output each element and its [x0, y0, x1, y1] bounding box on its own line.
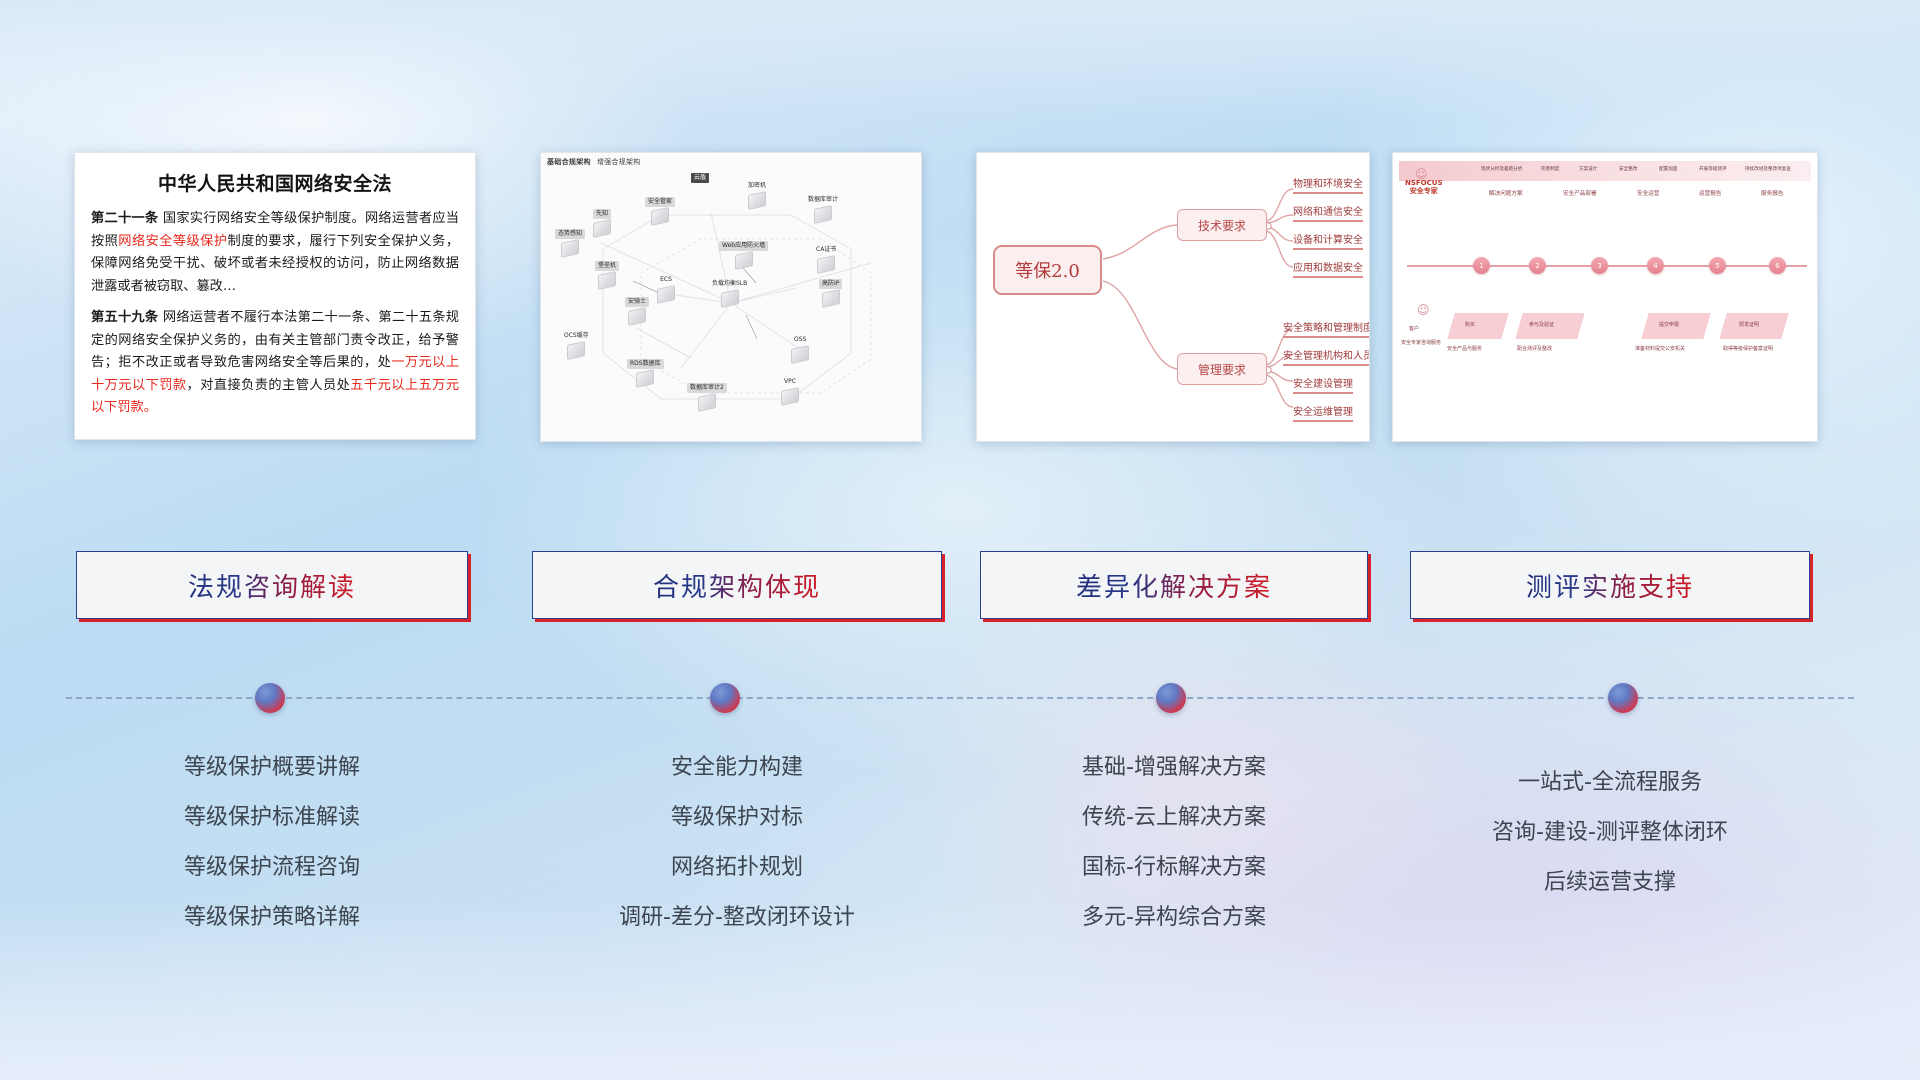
- roadmap-brand-line2: 安全专家: [1405, 187, 1443, 195]
- list-item: 国标-行标解决方案: [980, 843, 1368, 893]
- roadmap-header: 安全运营: [1637, 189, 1659, 197]
- law-article-label-2: 第五十九条: [91, 310, 158, 325]
- section-plaque-2[interactable]: 合规架构体现: [532, 551, 942, 619]
- roadmap-bottom-shape: [1447, 313, 1508, 339]
- arch-node-oss: OSS: [791, 335, 809, 362]
- roadmap-brand-line1: NSFOCUS: [1405, 179, 1443, 187]
- architecture-tabs: 基础合规架构增强合规架构: [547, 157, 641, 167]
- arch-node-vpc: VPC: [781, 377, 799, 404]
- card-compliance-architecture: 基础合规架构增强合规架构 云盾 安全管家: [540, 152, 922, 442]
- mindmap-leaf: 物理和环境安全: [1293, 175, 1363, 194]
- card-service-roadmap: 现状分析及差距分析 完善制度 方案设计 安全整改 配置加固 开展等级测评 持续改…: [1392, 152, 1818, 442]
- roadmap-band-item: 开展等级测评: [1699, 166, 1727, 172]
- roadmap-left-label: 客户: [1409, 325, 1419, 332]
- mindmap-root: 等保2.0: [993, 245, 1102, 295]
- roadmap-brand: NSFOCUS 安全专家: [1405, 179, 1443, 195]
- arch-node-label: OCS缓存: [561, 331, 592, 341]
- list-item: 等级保护标准解读: [76, 793, 468, 843]
- mindmap-branch-management: 管理要求: [1177, 353, 1267, 385]
- roadmap-step-dot: 1: [1473, 257, 1490, 274]
- arch-node-label: 堡垒机: [595, 261, 619, 271]
- customer-avatar-icon: ☺: [1417, 303, 1430, 317]
- arch-node-slb: 负载均衡SLB: [709, 279, 750, 306]
- arch-node-label: RDS数据库: [627, 359, 664, 369]
- arch-node-label: CA证书: [813, 245, 839, 255]
- arch-node-label: ECS: [657, 275, 675, 285]
- roadmap-header: 运营报告: [1699, 189, 1721, 197]
- roadmap-step-dot: 2: [1529, 257, 1546, 274]
- roadmap-header: 安全产品部署: [1563, 189, 1597, 197]
- section-plaque-4[interactable]: 测评实施支持: [1410, 551, 1810, 619]
- list-item: 网络拓扑规划: [532, 843, 942, 893]
- arch-node-label: Web应用防火墙: [719, 241, 768, 251]
- roadmap-bottom-sub: 准备材料提交公安机关: [1635, 345, 1685, 352]
- list-item: 等级保护策略详解: [76, 893, 468, 943]
- mindmap-leaf: 安全建设管理: [1293, 375, 1353, 394]
- arch-node-yundun: 云盾: [691, 173, 709, 183]
- arch-node-rds: RDS数据库: [627, 359, 664, 386]
- list-item: 安全能力构建: [532, 743, 942, 793]
- roadmap-bottom-sub: 配合测评及整改: [1517, 345, 1552, 352]
- roadmap-bottom-title: 参与及验证: [1529, 321, 1554, 328]
- section-plaque-1[interactable]: 法规咨询解读: [76, 551, 468, 619]
- law-paragraph-2: 第五十九条 网络运营者不履行本法第二十一条、第二十五条规定的网络安全保护义务的，…: [91, 307, 459, 420]
- mindmap-leaf: 安全运维管理: [1293, 403, 1353, 422]
- list-item: 等级保护概要讲解: [76, 743, 468, 793]
- section-list-2: 安全能力构建 等级保护对标 网络拓扑规划 调研-差分-整改闭环设计: [532, 743, 942, 943]
- roadmap-bottom-title: 购买: [1465, 321, 1475, 328]
- arch-node-gaofangip: 高防IP: [819, 279, 842, 306]
- section-title-4: 测评实施支持: [1526, 567, 1694, 604]
- law-paragraph-1: 第二十一条 国家实行网络安全等级保护制度。网络运营者应当按照网络安全等级保护制度…: [91, 208, 459, 298]
- timeline-dot-1[interactable]: [255, 683, 285, 713]
- roadmap-header: 解决问题方案: [1489, 189, 1523, 197]
- mindmap-leaf: 安全策略和管理制度: [1283, 319, 1370, 338]
- section-title-1: 法规咨询解读: [188, 567, 356, 604]
- timeline-dashed-line: [66, 697, 1854, 699]
- roadmap-band-item: 方案设计: [1579, 166, 1597, 172]
- arch-node-anqishi: 安骑士: [625, 297, 649, 324]
- arch-node-taishiganzhi: 态势感知: [555, 229, 585, 256]
- arch-node-label: 数据库审计2: [687, 383, 727, 393]
- list-item: 后续运营支撑: [1410, 858, 1810, 908]
- arch-node-label: 安全管家: [645, 197, 675, 207]
- card-dengbao-mindmap: 等保2.0 技术要求 管理要求 物理和环境安全 网络和通信安全 设备和计算安全 …: [976, 152, 1370, 442]
- roadmap-bottom-sub: 取得等级保护备案证明: [1723, 345, 1773, 352]
- section-list-1: 等级保护概要讲解 等级保护标准解读 等级保护流程咨询 等级保护策略详解: [76, 743, 468, 943]
- arch-node-dbaudit-bottom: 数据库审计2: [687, 383, 727, 410]
- roadmap-band-item: 持续改进及整改项复查: [1745, 166, 1791, 172]
- list-item: 传统-云上解决方案: [980, 793, 1368, 843]
- list-item: 一站式-全流程服务: [1410, 758, 1810, 808]
- mindmap-branch-technical: 技术要求: [1177, 209, 1267, 241]
- roadmap-step-dot: 4: [1647, 257, 1664, 274]
- arch-node-label: 加密机: [745, 181, 769, 191]
- arch-node-label: 安骑士: [625, 297, 649, 307]
- arch-node-xianzhi: 先知: [593, 209, 611, 236]
- roadmap-band-item: 现状分析及差距分析: [1481, 166, 1522, 172]
- arch-node-waf: Web应用防火墙: [719, 241, 768, 268]
- section-list-3: 基础-增强解决方案 传统-云上解决方案 国标-行标解决方案 多元-异构综合方案: [980, 743, 1368, 943]
- roadmap-band-item: 完善制度: [1541, 166, 1559, 172]
- section-title-2: 合规架构体现: [653, 567, 821, 604]
- roadmap-bottom-sub: 安全产品与服务: [1447, 345, 1482, 352]
- law-seg-2c: ，对直接负责的主管人员处: [187, 378, 351, 393]
- arch-node-anquanguanjia: 安全管家: [645, 197, 675, 224]
- arch-node-baoleiji: 堡垒机: [595, 261, 619, 288]
- law-seg-1b-highlight: 网络安全等级保护: [118, 234, 227, 249]
- arch-node-label: 数据库审计: [805, 195, 841, 205]
- mindmap-leaf: 设备和计算安全: [1293, 231, 1363, 250]
- list-item: 多元-异构综合方案: [980, 893, 1368, 943]
- roadmap-bottom-title: 颁发证明: [1739, 321, 1759, 328]
- roadmap-step-dot: 5: [1709, 257, 1726, 274]
- mindmap-leaf: 安全管理机构和人员: [1283, 347, 1370, 366]
- law-title: 中华人民共和国网络安全法: [91, 169, 459, 196]
- section-title-3: 差异化解决方案: [1076, 567, 1272, 604]
- arch-node-ocs: OCS缓存: [561, 331, 592, 358]
- card-cybersecurity-law: 中华人民共和国网络安全法 第二十一条 国家实行网络安全等级保护制度。网络运营者应…: [74, 152, 476, 440]
- arch-node-dbaudit-top: 数据库审计: [805, 195, 841, 222]
- arch-node-jiamiji: 加密机: [745, 181, 769, 208]
- list-item: 等级保护对标: [532, 793, 942, 843]
- list-item: 调研-差分-整改闭环设计: [532, 893, 942, 943]
- list-item: 基础-增强解决方案: [980, 743, 1368, 793]
- section-plaque-3[interactable]: 差异化解决方案: [980, 551, 1368, 619]
- arch-node-label: VPC: [781, 377, 799, 387]
- section-list-4: 一站式-全流程服务 咨询-建设-测评整体闭环 后续运营支撑: [1410, 758, 1810, 908]
- roadmap-step-dot: 6: [1769, 257, 1786, 274]
- list-item: 咨询-建设-测评整体闭环: [1410, 808, 1810, 858]
- roadmap-bottom-title: 提交申报: [1659, 321, 1679, 328]
- timeline-dot-3[interactable]: [1156, 683, 1186, 713]
- timeline-dot-2[interactable]: [710, 683, 740, 713]
- arch-node-label: 高防IP: [819, 279, 842, 289]
- roadmap-left-sublabel: 安全专家咨询服务: [1401, 339, 1441, 346]
- roadmap-header: 服务报告: [1761, 189, 1783, 197]
- list-item: 等级保护流程咨询: [76, 843, 468, 893]
- arch-node-ca: CA证书: [813, 245, 839, 272]
- roadmap-band-item: 安全整改: [1619, 166, 1637, 172]
- timeline-dot-4[interactable]: [1608, 683, 1638, 713]
- mindmap-connectors: [977, 153, 1369, 441]
- arch-node-label: 云盾: [691, 173, 709, 183]
- arch-node-label: 负载均衡SLB: [709, 279, 750, 289]
- mindmap-leaf: 网络和通信安全: [1293, 203, 1363, 222]
- architecture-tab-enhanced[interactable]: 增强合规架构: [597, 158, 641, 166]
- arch-node-label: 态势感知: [555, 229, 585, 239]
- law-article-label-1: 第二十一条: [91, 211, 158, 226]
- architecture-tab-basic[interactable]: 基础合规架构: [547, 158, 591, 166]
- arch-node-ecs: ECS: [657, 275, 675, 302]
- mindmap-leaf: 应用和数据安全: [1293, 259, 1363, 278]
- roadmap-band-item: 配置加固: [1659, 166, 1677, 172]
- roadmap-step-dot: 3: [1591, 257, 1608, 274]
- arch-node-label: 先知: [593, 209, 611, 219]
- arch-node-label: OSS: [791, 335, 809, 345]
